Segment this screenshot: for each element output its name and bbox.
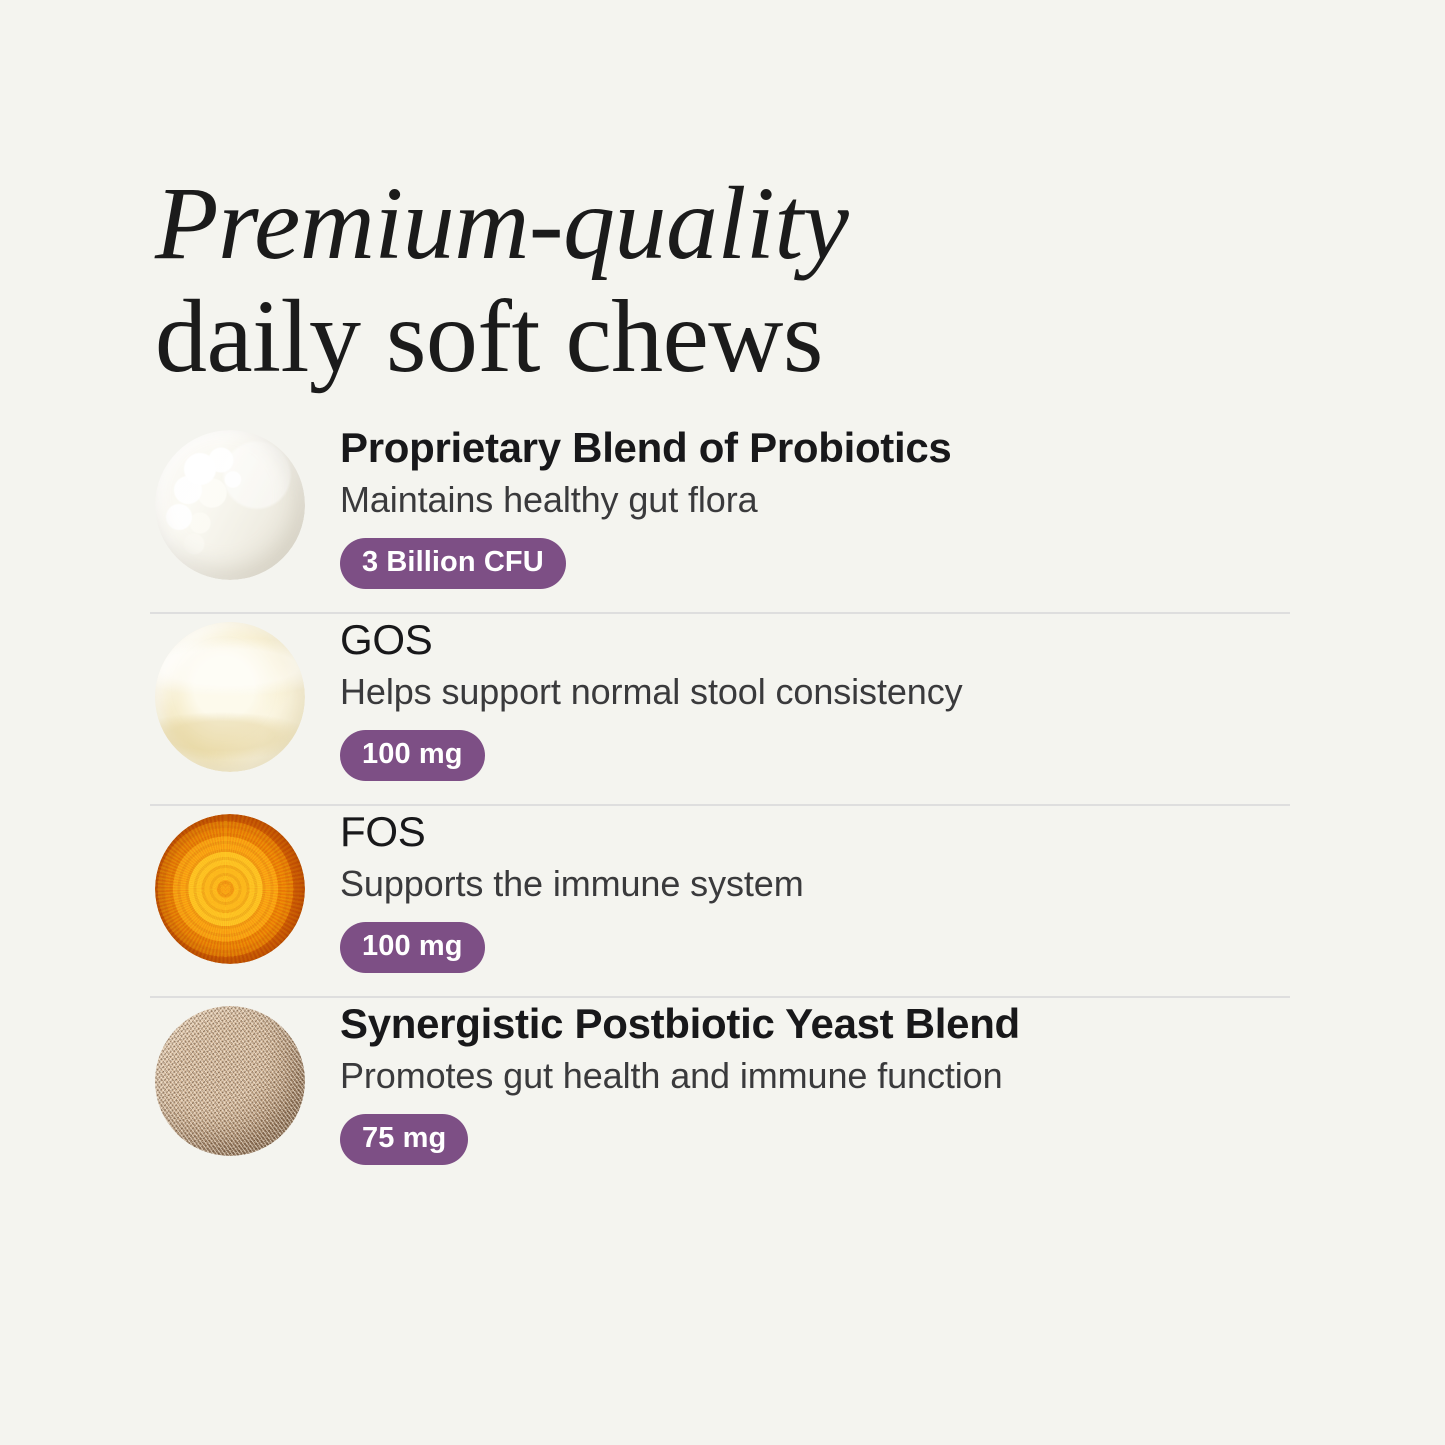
dosage-badge: 100 mg — [340, 730, 485, 781]
ingredient-thumbnail — [155, 430, 305, 580]
ingredient-thumbnail — [155, 814, 305, 964]
dosage-badge: 100 mg — [340, 922, 485, 973]
ingredient-content: Synergistic Postbiotic Yeast Blend Promo… — [305, 998, 1290, 1165]
list-item: GOS Helps support normal stool consisten… — [150, 614, 1290, 804]
ingredient-content: GOS Helps support normal stool consisten… — [305, 614, 1290, 781]
list-item: FOS Supports the immune system 100 mg — [150, 806, 1290, 996]
ingredient-title: FOS — [340, 808, 1290, 855]
ingredient-description: Promotes gut health and immune function — [340, 1055, 1290, 1097]
probiotic-cream-swatch-image — [155, 430, 305, 580]
product-benefits-infographic: Premium-quality daily soft chews Proprie… — [0, 0, 1445, 1445]
ingredient-thumbnail — [155, 1006, 305, 1156]
dosage-badge: 75 mg — [340, 1114, 468, 1165]
list-item: Synergistic Postbiotic Yeast Blend Promo… — [150, 998, 1290, 1188]
fos-chicory-root-slice-image — [155, 814, 305, 964]
ingredient-title: Proprietary Blend of Probiotics — [340, 424, 1290, 471]
ingredient-thumbnail — [155, 622, 305, 772]
ingredient-list: Proprietary Blend of Probiotics Maintain… — [150, 422, 1290, 1188]
dosage-badge: 3 Billion CFU — [340, 538, 566, 589]
headline-line-1: Premium-quality — [155, 171, 1305, 277]
ingredient-description: Helps support normal stool consistency — [340, 671, 1290, 713]
gos-cream-swatch-image — [155, 622, 305, 772]
page-title: Premium-quality daily soft chews — [155, 171, 1305, 389]
ingredient-content: Proprietary Blend of Probiotics Maintain… — [305, 422, 1290, 589]
ingredient-description: Supports the immune system — [340, 863, 1290, 905]
headline-line-2: daily soft chews — [155, 284, 1305, 390]
list-item: Proprietary Blend of Probiotics Maintain… — [150, 422, 1290, 612]
ingredient-title: GOS — [340, 616, 1290, 663]
ingredient-description: Maintains healthy gut flora — [340, 479, 1290, 521]
ingredient-content: FOS Supports the immune system 100 mg — [305, 806, 1290, 973]
ingredient-title: Synergistic Postbiotic Yeast Blend — [340, 1000, 1290, 1047]
postbiotic-yeast-granules-image — [155, 1006, 305, 1156]
